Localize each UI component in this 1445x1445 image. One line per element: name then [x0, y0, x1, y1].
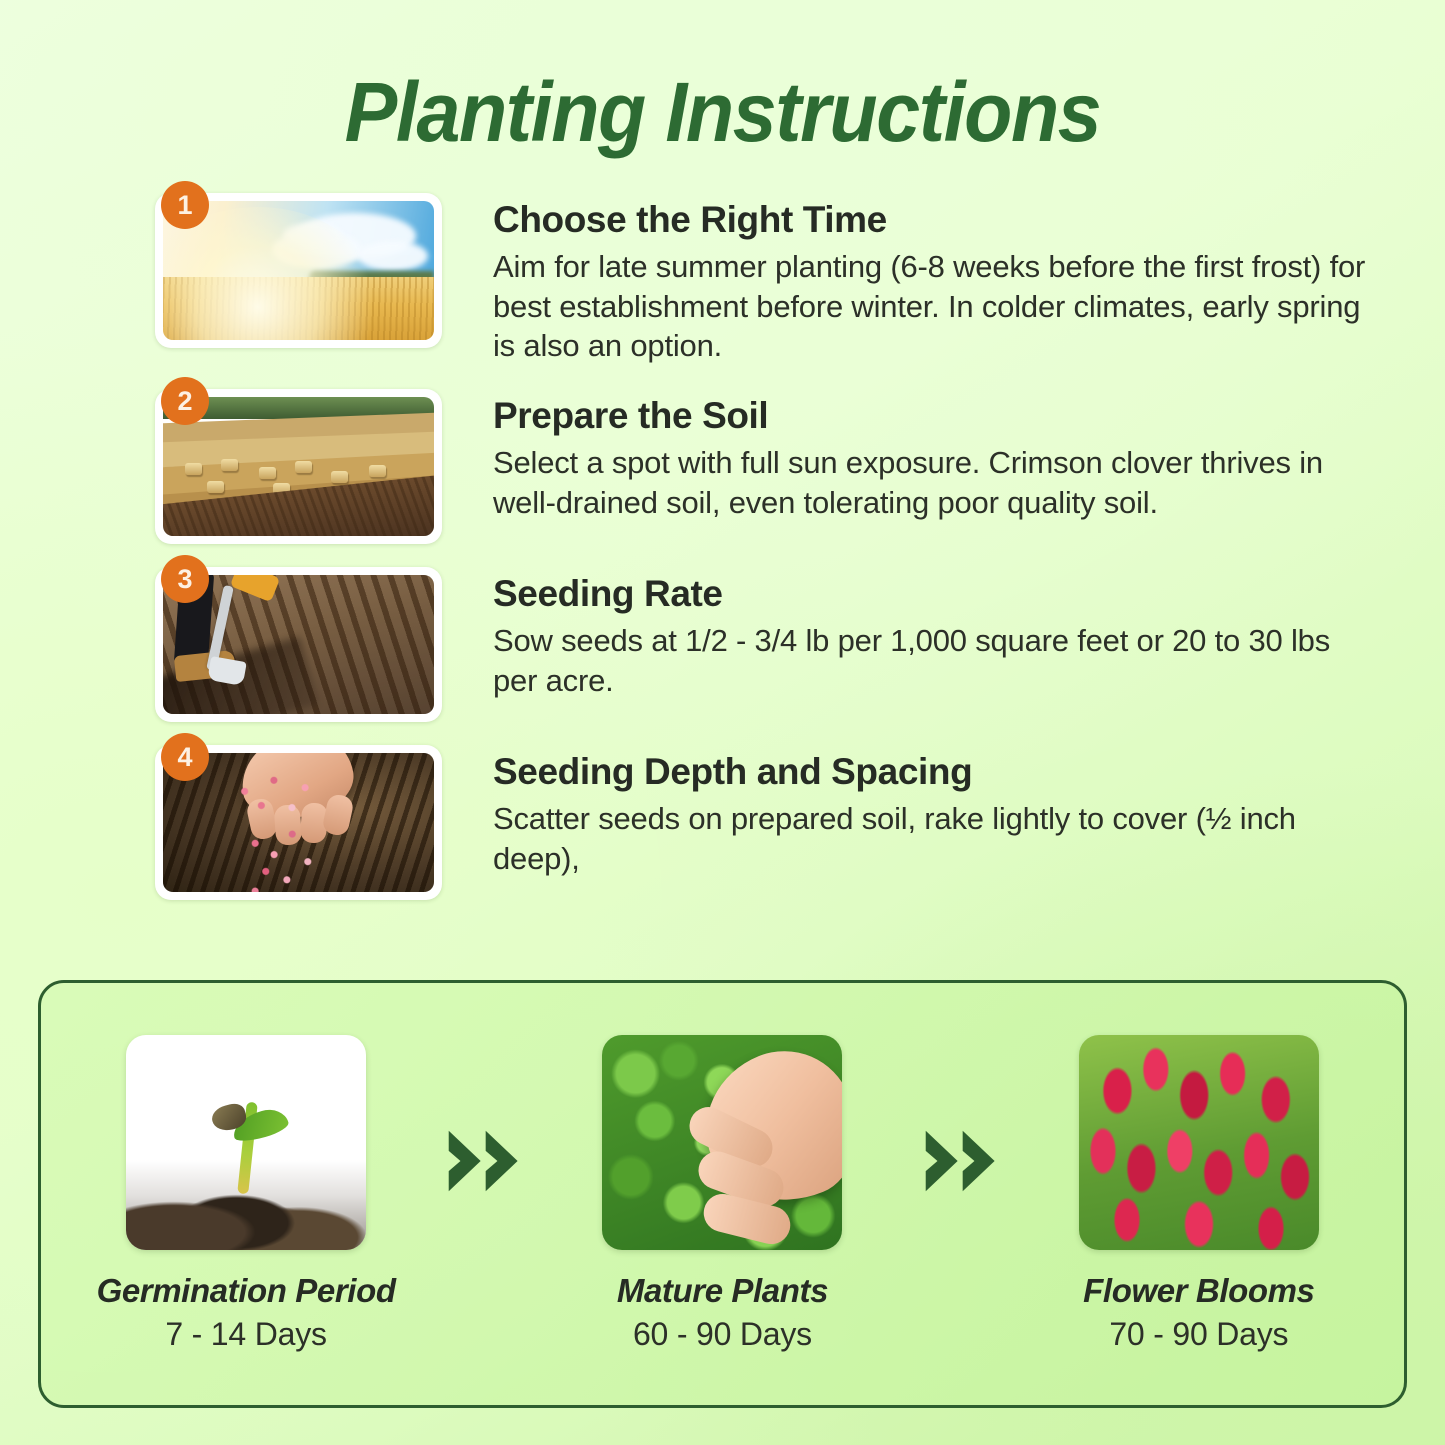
growth-timeline-panel: Germination Period 7 - 14 Days Mature Pl…: [38, 980, 1407, 1408]
crimson-clover-flower-blooms-photo: [1079, 1035, 1319, 1250]
step-number-badge: 2: [161, 377, 209, 425]
step-thumbnail-3: 3: [155, 567, 442, 722]
double-chevron-right-icon: [919, 1118, 1003, 1204]
stage-duration: 60 - 90 Days: [633, 1316, 812, 1353]
step-title: Seeding Rate: [493, 573, 1372, 615]
step-body: Select a spot with full sun exposure. Cr…: [493, 443, 1372, 522]
timeline-stage-germination: Germination Period 7 - 14 Days: [96, 1035, 396, 1353]
double-chevron-right-icon: [442, 1118, 526, 1204]
step-text-block: Seeding Rate Sow seeds at 1/2 - 3/4 lb p…: [442, 567, 1372, 700]
step-number-badge: 4: [161, 733, 209, 781]
step-thumbnail-2: 2: [155, 389, 442, 544]
step-body: Scatter seeds on prepared soil, rake lig…: [493, 799, 1372, 878]
step-thumbnail-4: 4: [155, 745, 442, 900]
step-thumbnail-1: 1: [155, 193, 442, 348]
mature-clover-plants-with-hand-photo: [602, 1035, 842, 1250]
steps-list: 1 Choose the Right Time Aim for late sum…: [0, 193, 1445, 923]
planting-instructions-infographic: Planting Instructions: [0, 0, 1445, 1445]
stage-label: Germination Period: [97, 1272, 396, 1310]
step-number-badge: 3: [161, 555, 209, 603]
step-body: Sow seeds at 1/2 - 3/4 lb per 1,000 squa…: [493, 621, 1372, 700]
step-text-block: Choose the Right Time Aim for late summe…: [442, 193, 1372, 366]
stage-label: Mature Plants: [617, 1272, 828, 1310]
timeline-stage-flower-blooms: Flower Blooms 70 - 90 Days: [1049, 1035, 1349, 1353]
hand-scattering-seeds-photo: [163, 753, 434, 892]
step-body: Aim for late summer planting (6-8 weeks …: [493, 247, 1372, 366]
step-title: Seeding Depth and Spacing: [493, 751, 1372, 793]
harvested-field-hay-bales-photo: [163, 397, 434, 536]
step-item: 1 Choose the Right Time Aim for late sum…: [0, 193, 1445, 366]
timeline-stage-mature-plants: Mature Plants 60 - 90 Days: [572, 1035, 872, 1353]
step-title: Prepare the Soil: [493, 395, 1372, 437]
step-item: 4 Seeding Depth and Spacing Scatter seed…: [0, 745, 1445, 900]
step-item: 3 Seeding Rate Sow seeds at 1/2 - 3/4 lb…: [0, 567, 1445, 722]
step-item: 2 Prepare the Soil Select a spot with fu…: [0, 389, 1445, 544]
step-text-block: Prepare the Soil Select a spot with full…: [442, 389, 1372, 522]
step-title: Choose the Right Time: [493, 199, 1372, 241]
tilling-furrows-in-soil-photo: [163, 575, 434, 714]
page-title: Planting Instructions: [43, 68, 1401, 156]
sunlit-wheat-field-photo: [163, 201, 434, 340]
stage-duration: 7 - 14 Days: [165, 1316, 326, 1353]
germinating-sprout-photo: [126, 1035, 366, 1250]
stage-duration: 70 - 90 Days: [1109, 1316, 1288, 1353]
step-text-block: Seeding Depth and Spacing Scatter seeds …: [442, 745, 1372, 878]
step-number-badge: 1: [161, 181, 209, 229]
stage-label: Flower Blooms: [1083, 1272, 1314, 1310]
